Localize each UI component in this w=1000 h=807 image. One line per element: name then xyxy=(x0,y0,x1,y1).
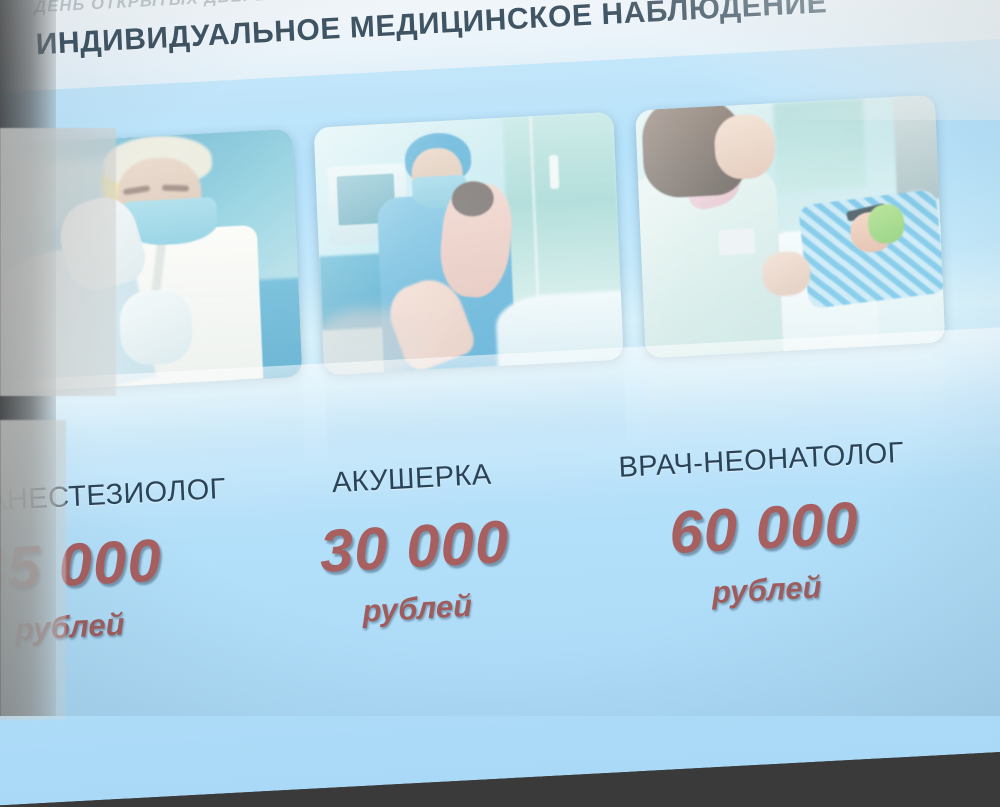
service-price-unit: рублей xyxy=(601,563,932,617)
photo-glare xyxy=(314,112,624,376)
photo-glare xyxy=(0,129,302,393)
reflection-anesthesiologist xyxy=(3,377,306,479)
service-price-unit: рублей xyxy=(0,601,235,655)
photo-neonatologist xyxy=(635,95,945,359)
reflection-neonatologist xyxy=(646,342,949,444)
photo-midwife xyxy=(314,112,624,376)
service-price-unit: рублей xyxy=(252,582,583,636)
service-price-value: 60 000 xyxy=(598,485,930,571)
photo-anesthesiologist xyxy=(0,129,302,393)
service-column-neonatologist: ВРАЧ-НЕОНАТОЛОГ 60 000 рублей xyxy=(596,436,933,617)
projected-slide-surface: ДЕНЬ ОТКРЫТЫХ ДВЕРЕЙ «В ОЖИДАНИИ ЧУДА»! … xyxy=(0,0,1000,807)
slide-canvas: ДЕНЬ ОТКРЫТЫХ ДВЕРЕЙ «В ОЖИДАНИИ ЧУДА»! … xyxy=(0,0,1000,807)
service-role-label: ВРАЧ-АНЕСТЕЗИОЛОГ xyxy=(0,473,230,524)
photo-glare xyxy=(635,95,945,359)
reflection-midwife xyxy=(324,360,627,462)
service-column-anesthesiologist: ВРАЧ-АНЕСТЕЗИОЛОГ 35 000 рублей xyxy=(0,473,235,654)
service-price-value: 30 000 xyxy=(248,503,580,589)
service-column-midwife: АКУШЕРКА 30 000 рублей xyxy=(246,454,583,635)
service-price-columns: ВРАЧ-АНЕСТЕЗИОЛОГ 35 000 рублей АКУШЕРКА… xyxy=(0,428,1000,717)
service-price-value: 35 000 xyxy=(0,522,233,608)
